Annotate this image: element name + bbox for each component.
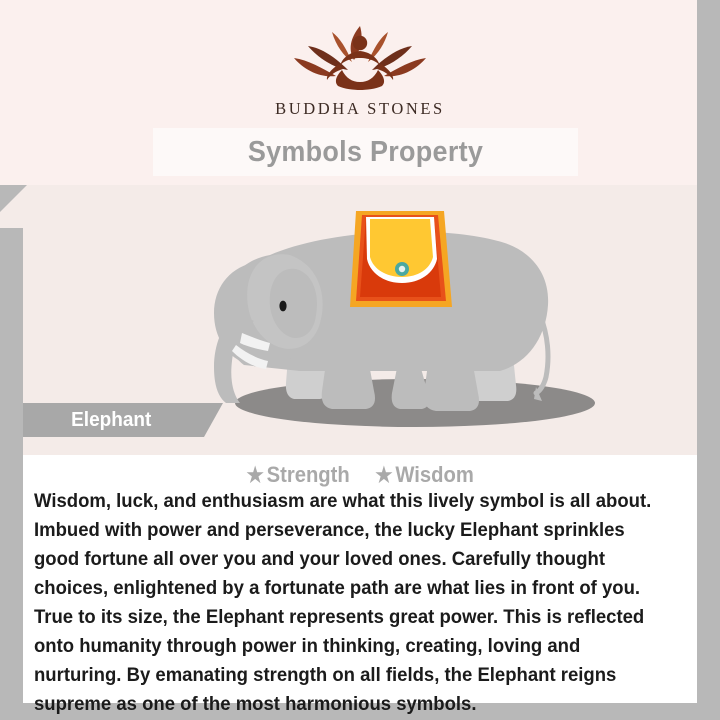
symbol-name-banner: Elephant bbox=[23, 403, 223, 437]
attribute-wisdom: ★Wisdom bbox=[375, 462, 474, 488]
star-icon: ★ bbox=[375, 464, 392, 487]
page-title: Symbols Property bbox=[248, 136, 483, 169]
title-banner: Symbols Property bbox=[153, 128, 578, 176]
infographic-card: BUDDHA STONES Symbols Property bbox=[0, 0, 720, 720]
attributes-row: ★Strength ★Wisdom bbox=[0, 462, 720, 488]
brand-name: BUDDHA STONES bbox=[0, 99, 720, 119]
lotus-meditation-icon bbox=[280, 18, 440, 96]
elephant-eye bbox=[279, 301, 286, 312]
star-icon: ★ bbox=[247, 464, 264, 487]
brand-logo: BUDDHA STONES bbox=[0, 18, 720, 119]
attribute-strength: ★Strength bbox=[247, 462, 350, 488]
symbol-name: Elephant bbox=[71, 409, 151, 432]
elephant-saddle bbox=[350, 211, 452, 307]
attribute-wisdom-label: Wisdom bbox=[395, 462, 474, 487]
attribute-strength-label: Strength bbox=[267, 462, 350, 487]
description-text: Wisdom, luck, and enthusiasm are what th… bbox=[34, 487, 664, 719]
